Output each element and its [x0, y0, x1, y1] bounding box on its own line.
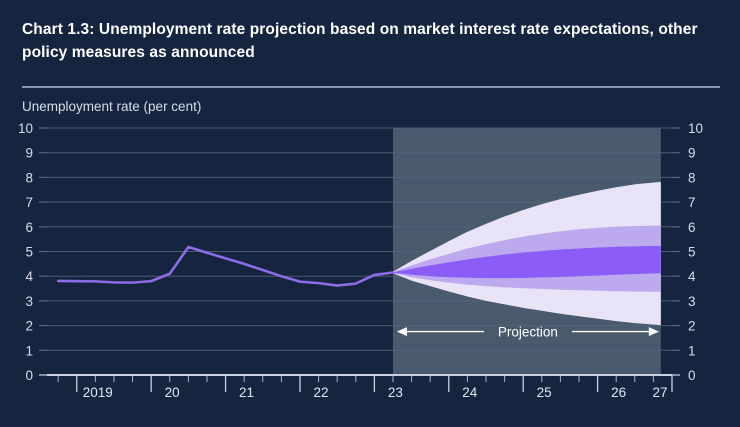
svg-text:1: 1 [25, 343, 33, 358]
svg-text:1: 1 [688, 343, 696, 358]
svg-text:2019: 2019 [83, 385, 113, 400]
chart-container: Chart 1.3: Unemployment rate projection … [0, 0, 740, 427]
svg-text:6: 6 [25, 220, 33, 235]
chart-plot-area: 012345678910 012345678910 20192021222324… [0, 0, 740, 427]
svg-text:27: 27 [652, 385, 667, 400]
svg-text:3: 3 [25, 294, 33, 309]
svg-text:8: 8 [25, 170, 33, 185]
svg-text:6: 6 [688, 220, 696, 235]
svg-text:9: 9 [688, 146, 696, 161]
svg-text:4: 4 [688, 269, 696, 284]
svg-text:26: 26 [611, 385, 626, 400]
svg-text:0: 0 [688, 368, 696, 383]
x-axis-labels: 20192021222324252627 [83, 385, 668, 400]
svg-text:10: 10 [18, 121, 33, 136]
y-axis-labels-right: 012345678910 [688, 121, 703, 383]
svg-text:23: 23 [388, 385, 403, 400]
svg-text:7: 7 [688, 195, 696, 210]
svg-text:2: 2 [25, 319, 33, 334]
svg-text:10: 10 [688, 121, 703, 136]
svg-text:5: 5 [25, 245, 33, 260]
history-line [58, 247, 393, 286]
svg-text:5: 5 [688, 245, 696, 260]
svg-text:7: 7 [25, 195, 33, 210]
svg-text:0: 0 [25, 368, 33, 383]
svg-text:24: 24 [462, 385, 478, 400]
svg-text:9: 9 [25, 146, 33, 161]
svg-text:21: 21 [239, 385, 254, 400]
svg-text:3: 3 [688, 294, 696, 309]
svg-text:8: 8 [688, 170, 696, 185]
svg-text:25: 25 [537, 385, 552, 400]
y-axis-labels-left: 012345678910 [18, 121, 34, 383]
svg-text:4: 4 [25, 269, 33, 284]
svg-text:20: 20 [165, 385, 180, 400]
projection-label: Projection [498, 325, 558, 340]
svg-text:2: 2 [688, 319, 696, 334]
svg-text:22: 22 [313, 385, 328, 400]
